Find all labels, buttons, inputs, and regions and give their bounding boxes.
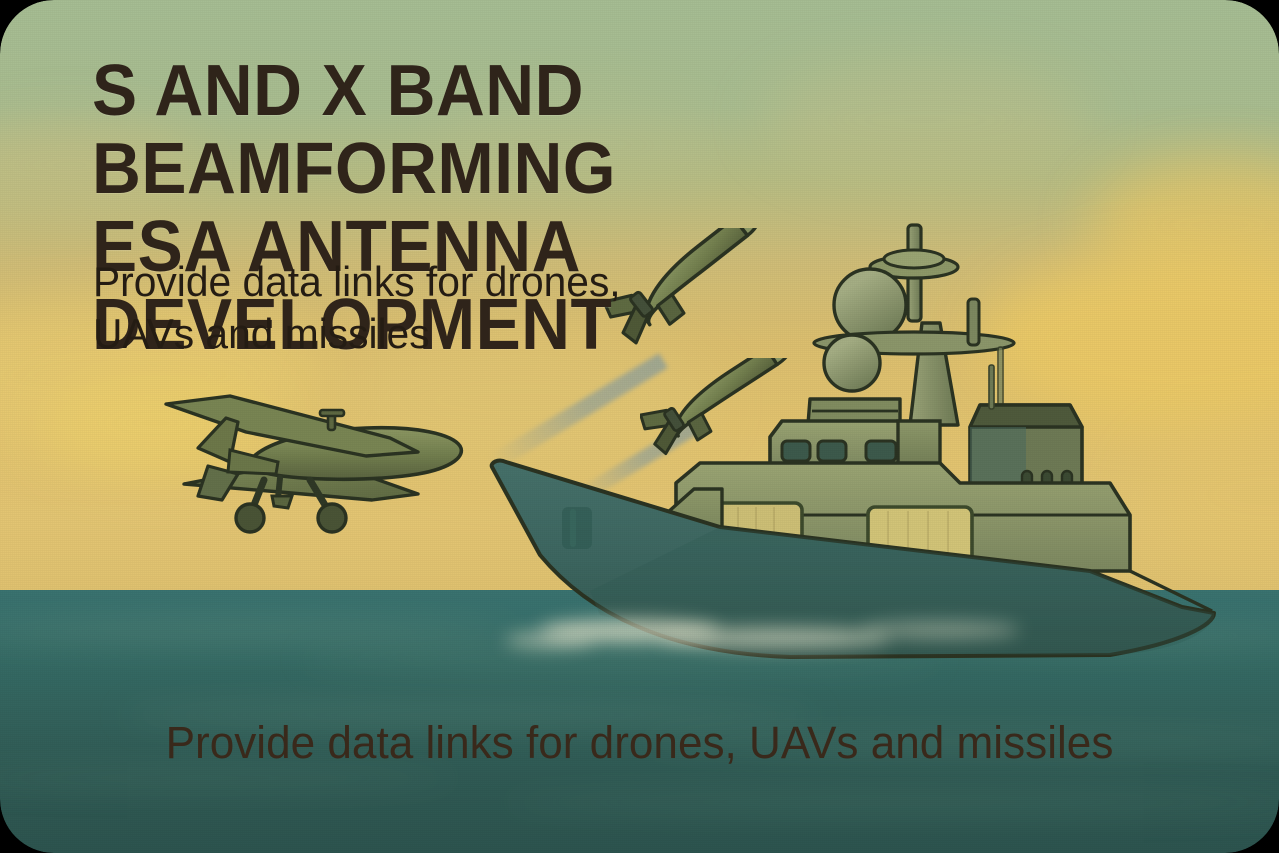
bow-wave-foam [660,628,890,648]
wave-streak [0,768,460,788]
wave-streak [0,618,520,644]
wave-streak [500,790,1279,814]
bow-wave-foam [860,622,1020,638]
subtitle-text: Provide data links for drones, UAVs and … [93,256,714,360]
uav-drone-icon [160,388,490,536]
slide-canvas: S AND X BAND BEAMFORMING ESA ANTENNA DEV… [0,0,1279,853]
bottom-caption: Provide data links for drones, UAVs and … [13,717,1266,769]
